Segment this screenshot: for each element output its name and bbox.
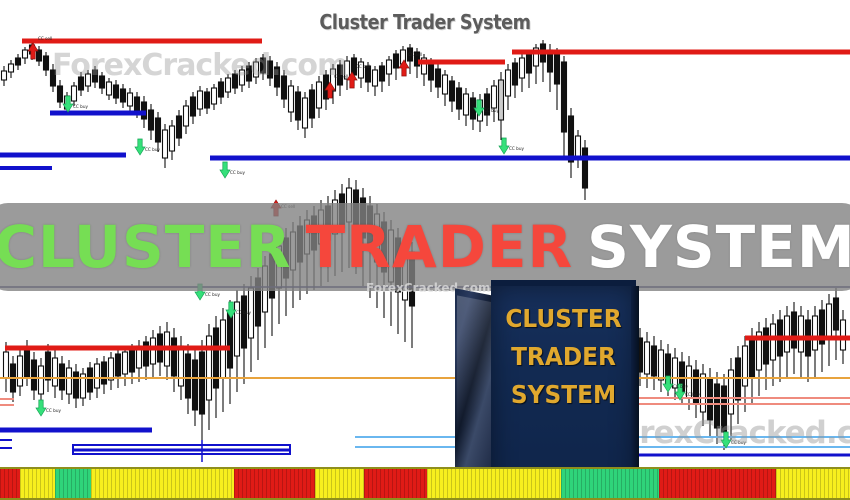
indicator-strip-segment <box>234 469 315 498</box>
svg-text:CC sell: CC sell <box>408 52 422 57</box>
indicator-strip-segment <box>20 469 56 498</box>
banner-word-trader: TRADER <box>306 213 574 281</box>
indicator-strip-segment <box>427 469 561 498</box>
svg-text:CC buy: CC buy <box>73 104 88 109</box>
svg-text:CC sell: CC sell <box>356 64 370 69</box>
chart-title: Cluster Trader System <box>51 10 799 34</box>
product-box-gloss <box>457 295 491 482</box>
product-box-line-3: SYSTEM <box>496 376 631 414</box>
banner-word-cluster: CLUSTER <box>0 213 292 281</box>
svg-text:CC buy: CC buy <box>46 408 61 413</box>
svg-text:CC buy: CC buy <box>731 440 746 445</box>
screenshot-root: CC sell CC sell CC sell CC sell CC buy C… <box>0 0 850 500</box>
indicator-strip[interactable] <box>0 467 850 500</box>
product-box-line-2: TRADER <box>496 338 631 376</box>
svg-text:CC buy: CC buy <box>236 310 251 315</box>
svg-text:CC buy: CC buy <box>205 292 220 297</box>
product-box-line-1: CLUSTER <box>496 300 631 338</box>
banner-title: CLUSTER TRADER SYSTEM <box>0 203 850 291</box>
indicator-strip-segment <box>659 469 775 498</box>
svg-text:CC sell: CC sell <box>38 36 52 41</box>
indicator-strip-segment <box>364 469 427 498</box>
banner-word-system: SYSTEM <box>587 213 850 281</box>
svg-text:CC buy: CC buy <box>685 392 700 397</box>
indicator-strip-segment <box>91 469 234 498</box>
indicator-strip-segment <box>55 469 91 498</box>
indicator-strip-segment <box>0 469 20 498</box>
product-box-title: CLUSTER TRADER SYSTEM <box>491 300 636 414</box>
indicator-strip-segment <box>315 469 364 498</box>
indicator-strip-segment <box>561 469 659 498</box>
svg-text:CC buy: CC buy <box>230 170 245 175</box>
svg-text:CC sell: CC sell <box>334 74 348 79</box>
svg-text:CC buy: CC buy <box>673 384 688 389</box>
indicator-strip-segment <box>776 469 850 498</box>
svg-text:CC buy: CC buy <box>484 108 499 113</box>
svg-text:CC buy: CC buy <box>145 147 160 152</box>
svg-text:CC buy: CC buy <box>509 146 524 151</box>
